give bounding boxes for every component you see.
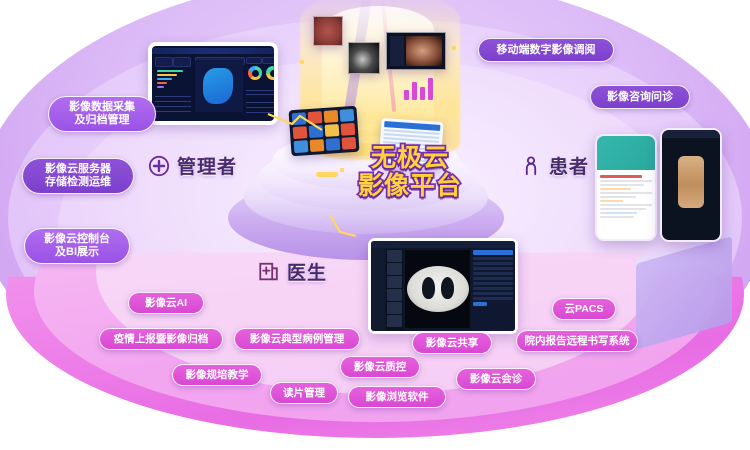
pill-doctor-8[interactable]: 影像云会诊 bbox=[456, 368, 536, 390]
pill-doctor-0[interactable]: 影像云AI bbox=[128, 292, 204, 314]
pill-doctor-5[interactable]: 影像云质控 bbox=[340, 356, 420, 378]
bi-dashboard-screen bbox=[148, 42, 278, 125]
medical-record-icon bbox=[258, 261, 280, 283]
spark bbox=[452, 46, 456, 50]
platform-title-line1: 无极云 bbox=[330, 144, 490, 172]
pill-admin-1[interactable]: 影像云服务器 存储检测运维 bbox=[22, 158, 134, 194]
pill-patient-0[interactable]: 移动端数字影像调阅 bbox=[478, 38, 614, 62]
column-bar-chart bbox=[404, 76, 433, 100]
pill-doctor-10[interactable]: 院内报告远程书写系统 bbox=[516, 330, 638, 352]
endoscopy-thumbnail bbox=[313, 16, 343, 46]
pill-admin-2[interactable]: 影像云控制台 及BI展示 bbox=[24, 228, 130, 264]
patient-report-phone bbox=[595, 134, 657, 241]
role-patient[interactable]: 患者 bbox=[520, 152, 589, 179]
role-admin-label: 管理者 bbox=[177, 152, 237, 179]
pill-admin-0[interactable]: 影像数据采集 及归档管理 bbox=[48, 96, 156, 132]
3d-imaging-phone bbox=[660, 128, 722, 242]
person-icon bbox=[520, 155, 542, 177]
spark bbox=[300, 60, 304, 64]
angiography-screen bbox=[386, 32, 446, 70]
platform-title-line2: 影像平台 bbox=[330, 172, 490, 200]
role-admin[interactable]: 管理者 bbox=[148, 152, 237, 179]
pill-doctor-9[interactable]: 云PACS bbox=[552, 298, 616, 320]
infographic-canvas: 管理者 患者 医生 无极云 影像平台 影像数据采集 及归档管理 影像云服务器 存… bbox=[0, 0, 750, 450]
echo-ultrasound-thumbnail bbox=[348, 42, 380, 74]
role-patient-label: 患者 bbox=[549, 152, 589, 179]
pill-doctor-7[interactable]: 影像云共享 bbox=[412, 332, 492, 354]
pill-doctor-3[interactable]: 影像规培教学 bbox=[172, 364, 262, 386]
circle-plus-icon bbox=[148, 155, 170, 177]
pill-doctor-2[interactable]: 影像云典型病例管理 bbox=[234, 328, 360, 350]
pill-doctor-6[interactable]: 影像浏览软件 bbox=[348, 386, 446, 408]
pill-patient-1[interactable]: 影像咨询问诊 bbox=[590, 85, 690, 109]
pill-doctor-4[interactable]: 读片管理 bbox=[270, 382, 338, 404]
platform-title: 无极云 影像平台 bbox=[330, 144, 490, 200]
role-doctor-label: 医生 bbox=[287, 258, 327, 285]
role-doctor[interactable]: 医生 bbox=[258, 258, 327, 285]
pill-doctor-1[interactable]: 疫情上报暨影像归档 bbox=[99, 328, 223, 350]
ct-viewer-screen bbox=[368, 238, 518, 334]
